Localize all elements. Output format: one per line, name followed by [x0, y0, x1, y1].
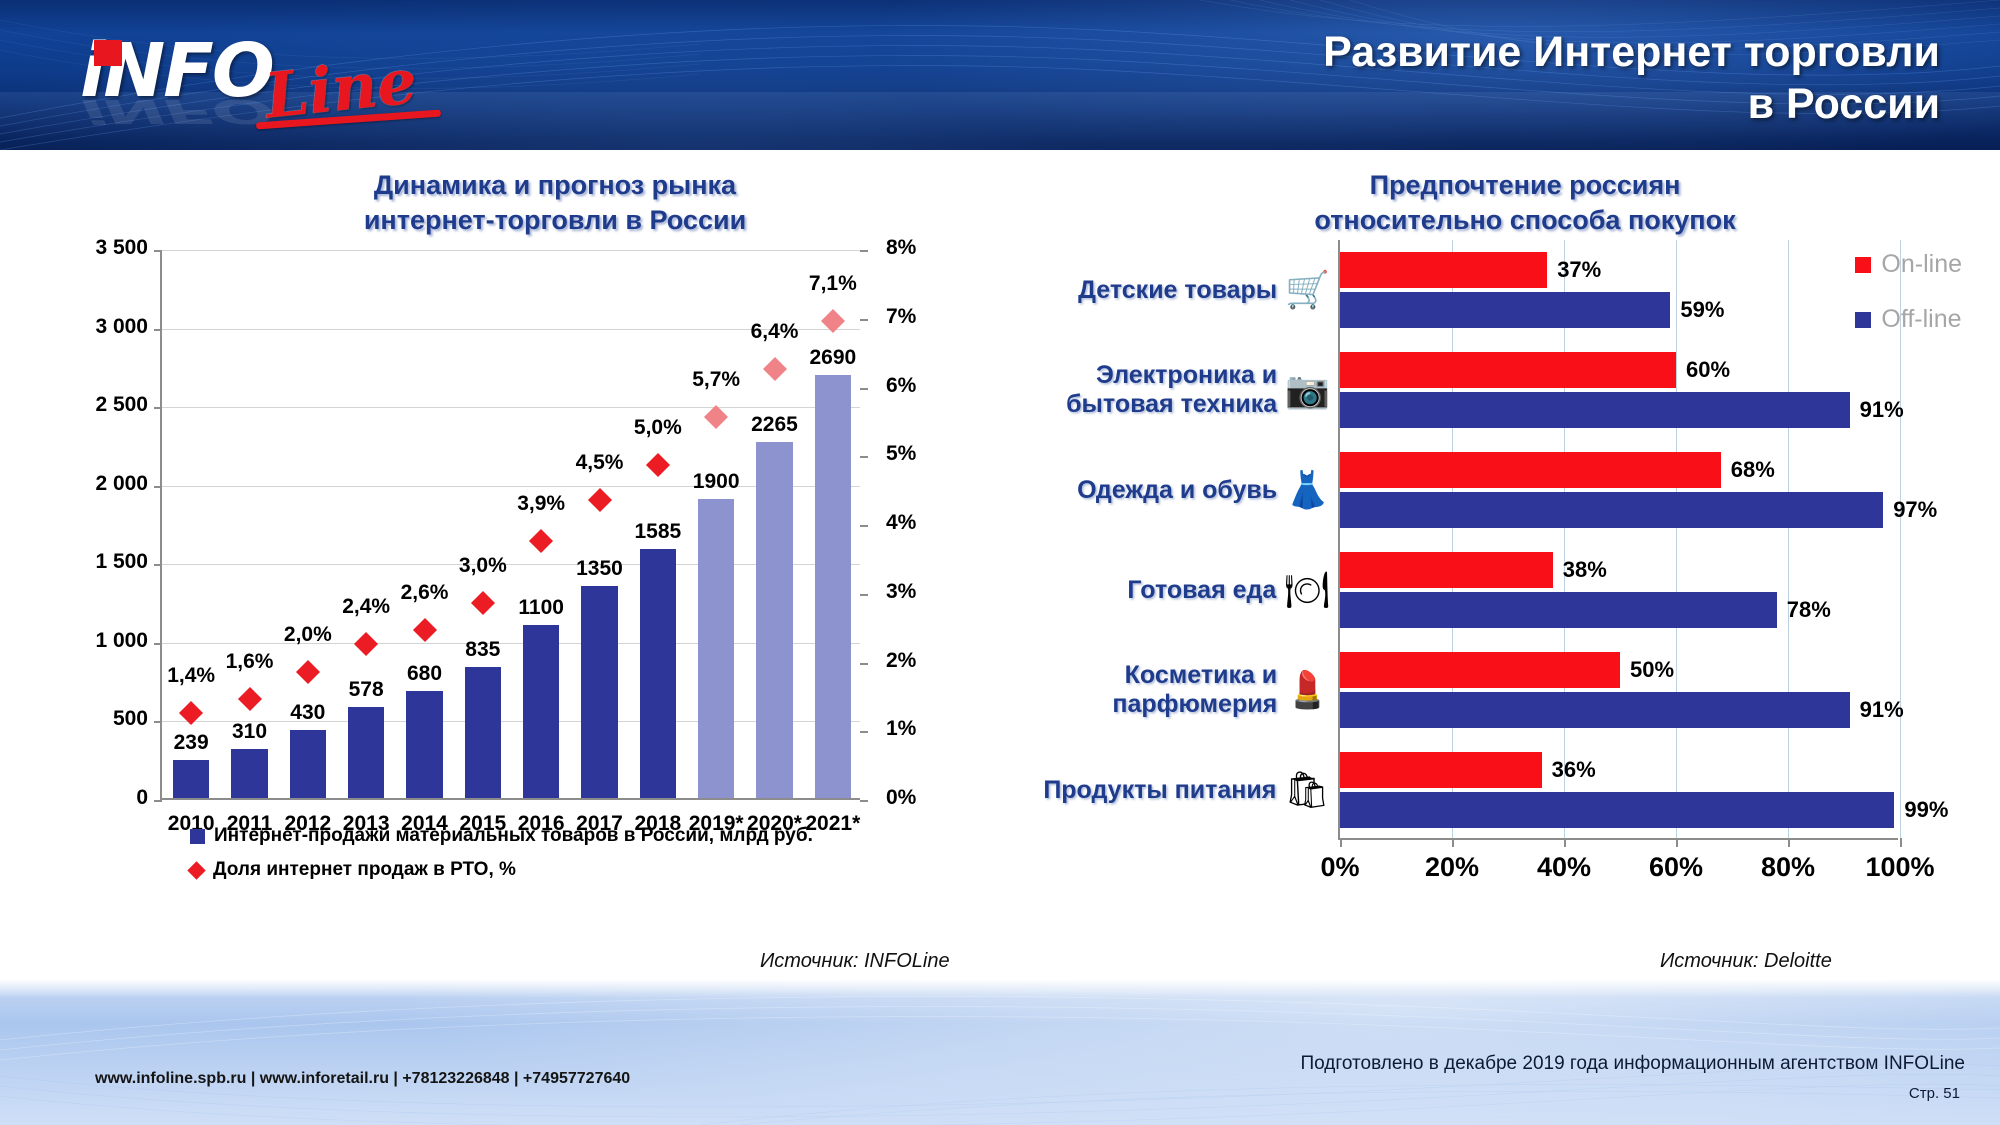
legend-item-bars: Интернет-продажи материальных товаров в …: [190, 825, 813, 847]
online-value-label: 37%: [1557, 257, 1601, 283]
x-axis-tick-label: 60%: [1649, 852, 1703, 883]
bar-value-label: 430: [290, 701, 325, 725]
secondary-y-axis-tick-mark: [860, 456, 868, 458]
bar-value-label: 1100: [518, 596, 564, 620]
secondary-y-axis-tick-mark: [860, 525, 868, 527]
online-bar: 60%: [1340, 352, 1676, 388]
footer-prepared-note: Подготовлено в декабре 2019 года информа…: [1301, 1053, 1966, 1075]
legend-diamond-icon: [187, 861, 205, 879]
bar-2014: 680: [406, 691, 442, 798]
secondary-y-axis-tick-label: 0%: [860, 786, 916, 810]
category-label-row: Готовая еда🍽: [990, 556, 1330, 624]
category-label-row: Косметика и парфюмерия💄: [990, 656, 1330, 724]
offline-value-label: 97%: [1893, 497, 1937, 523]
category-label-row: Детские товары🛒: [990, 256, 1330, 324]
category-label-text: Одежда и обувь: [1077, 476, 1277, 505]
slide-footer: www.infoline.spb.ru | www.inforetail.ru …: [0, 980, 2000, 1125]
online-bar: 38%: [1340, 552, 1553, 588]
y-axis-tick-label: 3 000: [95, 315, 162, 339]
legend-square-icon: [190, 829, 205, 844]
baby-carriage-icon: 🛒: [1285, 272, 1330, 308]
offline-bar: 91%: [1340, 692, 1850, 728]
bar-2011: 310: [231, 749, 267, 798]
x-axis-tick-mark: [1788, 838, 1790, 847]
legend-item-dots: Доля интернет продаж в РТО, %: [190, 859, 813, 881]
x-axis-tick-label: 100%: [1865, 852, 1934, 883]
marker-2018: [646, 453, 670, 477]
marker-value-label: 5,7%: [692, 368, 740, 392]
marker-2011: [237, 687, 261, 711]
offline-value-label: 99%: [1904, 797, 1948, 823]
offline-bar: 97%: [1340, 492, 1883, 528]
page-title: Развитие Интернет торговли в России: [740, 26, 1940, 131]
y-axis-tick-mark: [154, 250, 162, 252]
secondary-y-axis-tick-mark: [860, 663, 868, 665]
right-chart-plot-area: 0%20%40%60%80%100%37%59%60%91%68%97%38%7…: [1338, 240, 1898, 840]
online-value-label: 50%: [1630, 657, 1674, 683]
gridline: [1452, 240, 1453, 838]
bar-2012: 430: [290, 730, 326, 798]
marker-2014: [412, 618, 436, 642]
category-label-text: Косметика и парфюмерия: [990, 661, 1277, 719]
secondary-y-axis-tick-label: 5%: [860, 442, 916, 466]
bar-value-label: 239: [174, 731, 209, 755]
left-chart-plot-area: 05001 0001 5002 0002 5003 0003 5000%1%2%…: [160, 250, 860, 800]
legend-bars-label: Интернет-продажи материальных товаров в …: [214, 825, 813, 847]
legend-offline-label: Off-line: [1881, 305, 1961, 334]
x-axis-tick-label: 80%: [1761, 852, 1815, 883]
y-axis-tick-mark: [154, 329, 162, 331]
logo-line-text: Line: [262, 50, 419, 128]
offline-value-label: 91%: [1860, 697, 1904, 723]
bar-value-label: 1585: [634, 520, 681, 544]
bar-2018: 1585: [640, 549, 676, 798]
offline-value-label: 91%: [1860, 397, 1904, 423]
marker-value-label: 4,5%: [576, 451, 624, 475]
offline-value-label: 78%: [1787, 597, 1831, 623]
bar-value-label: 835: [465, 638, 500, 662]
bar-2020*: 2265: [756, 442, 792, 798]
market-dynamics-chart: 05001 0001 5002 0002 5003 0003 5000%1%2%…: [30, 240, 990, 890]
footer-fade: [0, 980, 2000, 998]
y-axis-tick-mark: [154, 407, 162, 409]
bar-2016: 1100: [523, 625, 559, 798]
secondary-y-axis-tick-mark: [860, 800, 868, 802]
secondary-y-axis-tick-mark: [860, 319, 868, 321]
bar-value-label: 1900: [693, 470, 740, 494]
page-title-line2: в России: [740, 78, 1940, 130]
bar-value-label: 2690: [809, 346, 856, 370]
marker-value-label: 5,0%: [634, 416, 682, 440]
y-axis-tick-label: 500: [113, 707, 162, 731]
bar-2021*: 2690: [815, 375, 851, 798]
online-value-label: 36%: [1552, 757, 1596, 783]
right-chart-category-labels: Детские товары🛒Электроника и бытовая тех…: [990, 240, 1330, 840]
online-value-label: 68%: [1731, 457, 1775, 483]
right-chart-title-line1: Предпочтение россиян: [1130, 168, 1920, 203]
bar-2013: 578: [348, 707, 384, 798]
marker-value-label: 2,6%: [401, 581, 449, 605]
category-label-text: Продукты питания: [1043, 776, 1276, 805]
marker-value-label: 2,4%: [342, 595, 390, 619]
bar-2017: 1350: [581, 586, 617, 798]
online-value-label: 60%: [1686, 357, 1730, 383]
legend-online-square-icon: [1855, 257, 1871, 273]
y-axis-tick-mark: [154, 486, 162, 488]
marker-2019*: [704, 405, 728, 429]
secondary-y-axis-tick-label: 3%: [860, 580, 916, 604]
left-chart-title-line1: Динамика и прогноз рынка: [130, 168, 980, 203]
left-chart-source: Источник: INFOLine: [760, 950, 950, 973]
legend-offline-square-icon: [1855, 312, 1871, 328]
bar-value-label: 680: [407, 662, 442, 686]
y-axis-tick-label: 1 500: [95, 550, 162, 574]
x-axis-tick-mark: [1676, 838, 1678, 847]
x-axis-tick-mark: [1452, 838, 1454, 847]
marker-2016: [529, 529, 553, 553]
slide-header: iNFO iNFO Line Развитие Интернет торговл…: [0, 0, 2000, 150]
bar-2010: 239: [173, 760, 209, 798]
marker-2013: [354, 632, 378, 656]
y-axis-tick-label: 3 500: [95, 236, 162, 260]
offline-bar: 78%: [1340, 592, 1777, 628]
legend-dots-label: Доля интернет продаж в РТО, %: [213, 859, 516, 881]
bar-value-label: 1350: [576, 557, 623, 581]
online-value-label: 38%: [1563, 557, 1607, 583]
legend-item-offline: Off-line: [1855, 305, 1962, 334]
marker-value-label: 6,4%: [751, 320, 799, 344]
secondary-y-axis-tick-mark: [860, 594, 868, 596]
left-chart-title: Динамика и прогноз рынка интернет-торгов…: [130, 168, 980, 238]
bar-2015: 835: [465, 667, 501, 798]
marker-value-label: 3,9%: [517, 492, 565, 516]
online-bar: 36%: [1340, 752, 1542, 788]
bar-value-label: 310: [232, 720, 267, 744]
y-axis-tick-label: 2 000: [95, 472, 162, 496]
bar-2019*: 1900: [698, 499, 734, 798]
offline-value-label: 59%: [1680, 297, 1724, 323]
y-axis-tick-mark: [154, 800, 162, 802]
right-chart-legend: On-line Off-line: [1855, 250, 1962, 360]
x-axis-tick-label: 0%: [1320, 852, 1359, 883]
gridline: [162, 486, 860, 487]
category-label-text: Электроника и бытовая техника: [990, 361, 1277, 419]
marker-2020*: [762, 357, 786, 381]
right-chart-source: Источник: Deloitte: [1660, 950, 1832, 973]
offline-bar: 59%: [1340, 292, 1670, 328]
x-axis-tick-mark: [1900, 838, 1902, 847]
legend-online-label: On-line: [1881, 250, 1962, 279]
secondary-y-axis-tick-mark: [860, 731, 868, 733]
camera-icon: 📷: [1285, 372, 1330, 408]
secondary-y-axis-tick-label: 1%: [860, 717, 916, 741]
marker-2015: [471, 591, 495, 615]
online-bar: 68%: [1340, 452, 1721, 488]
offline-bar: 99%: [1340, 792, 1894, 828]
grocery-bag-icon: 🛍: [1284, 772, 1330, 808]
secondary-y-axis-tick-label: 8%: [860, 236, 916, 260]
secondary-y-axis-tick-label: 6%: [860, 374, 916, 398]
right-chart-title: Предпочтение россиян относительно способ…: [1130, 168, 1920, 238]
bar-value-label: 578: [349, 678, 384, 702]
secondary-y-axis-tick-label: 4%: [860, 511, 916, 535]
legend-item-online: On-line: [1855, 250, 1962, 279]
category-label-text: Готовая еда: [1127, 576, 1276, 605]
right-chart-title-line2: относительно способа покупок: [1130, 203, 1920, 238]
secondary-y-axis-tick-mark: [860, 250, 868, 252]
page-title-line1: Развитие Интернет торговли: [740, 26, 1940, 78]
y-axis-tick-mark: [154, 721, 162, 723]
x-axis-tick-label: 20%: [1425, 852, 1479, 883]
y-axis-tick-label: 2 500: [95, 393, 162, 417]
gridline: [1676, 240, 1677, 838]
secondary-y-axis-tick-mark: [860, 388, 868, 390]
marker-value-label: 2,0%: [284, 623, 332, 647]
footer-page-number: Стр. 51: [1909, 1085, 1960, 1102]
marker-value-label: 1,6%: [226, 650, 274, 674]
slide-body: Динамика и прогноз рынка интернет-торгов…: [0, 150, 2000, 980]
cosmetics-icon: 💄: [1285, 672, 1330, 708]
marker-2017: [587, 488, 611, 512]
footer-contacts[interactable]: www.infoline.spb.ru | www.inforetail.ru …: [95, 1070, 630, 1088]
y-axis-tick-label: 0: [136, 786, 162, 810]
dress-icon: 👗: [1285, 472, 1330, 508]
marker-2012: [296, 659, 320, 683]
meal-icon: 🍽: [1284, 572, 1330, 608]
y-axis-tick-mark: [154, 564, 162, 566]
gridline: [162, 407, 860, 408]
bar-value-label: 2265: [751, 413, 798, 437]
marker-value-label: 1,4%: [167, 664, 215, 688]
left-chart-title-line2: интернет-торговли в России: [130, 203, 980, 238]
x-axis-tick-mark: [1564, 838, 1566, 847]
y-axis-tick-mark: [154, 643, 162, 645]
category-label-text: Детские товары: [1078, 276, 1277, 305]
logo-red-square-icon: [94, 40, 122, 66]
gridline: [1788, 240, 1789, 838]
y-axis-tick-label: 1 000: [95, 629, 162, 653]
category-label-row: Одежда и обувь👗: [990, 456, 1330, 524]
secondary-y-axis-tick-label: 7%: [860, 305, 916, 329]
gridline: [162, 250, 860, 251]
category-label-row: Продукты питания🛍: [990, 756, 1330, 824]
infoline-logo: iNFO iNFO Line: [80, 28, 410, 128]
marker-value-label: 3,0%: [459, 554, 507, 578]
marker-value-label: 7,1%: [809, 272, 857, 296]
gridline: [162, 643, 860, 644]
secondary-y-axis-tick-label: 2%: [860, 649, 916, 673]
gridline: [1564, 240, 1565, 838]
online-bar: 37%: [1340, 252, 1547, 288]
online-bar: 50%: [1340, 652, 1620, 688]
purchase-preference-chart: Детские товары🛒Электроника и бытовая тех…: [990, 240, 1990, 920]
category-label-row: Электроника и бытовая техника📷: [990, 356, 1330, 424]
left-chart-legend: Интернет-продажи материальных товаров в …: [190, 825, 813, 893]
x-axis-category-label: 2021*: [805, 812, 860, 836]
x-axis-tick-mark: [1340, 838, 1342, 847]
gridline: [162, 564, 860, 565]
offline-bar: 91%: [1340, 392, 1850, 428]
x-axis-tick-label: 40%: [1537, 852, 1591, 883]
